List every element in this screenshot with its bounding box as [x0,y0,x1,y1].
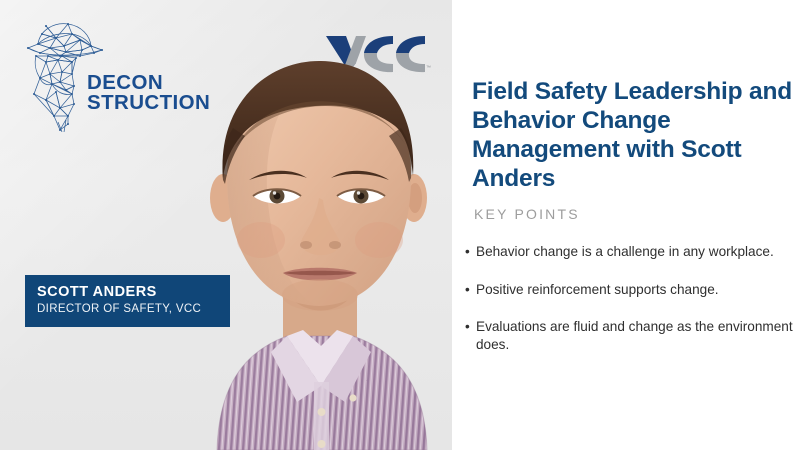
list-item: • Positive reinforcement supports change… [465,281,795,299]
list-item-text: Behavior change is a challenge in any wo… [476,244,774,259]
right-panel: Field Safety Leadership and Behavior Cha… [452,0,800,450]
left-panel: DECON STRUCTION ™ [0,0,452,450]
presentation-slide: DECON STRUCTION ™ [0,0,800,450]
speaker-name: SCOTT ANDERS [37,284,230,300]
key-points-list: • Behavior change is a challenge in any … [465,243,795,373]
speaker-role: DIRECTOR OF SAFETY, VCC [37,302,230,317]
bullet-icon: • [465,281,470,299]
list-item: • Behavior change is a challenge in any … [465,243,795,261]
key-points-heading: KEY POINTS [474,206,580,222]
speaker-portrait-photo [175,30,452,450]
bullet-icon: • [465,243,470,261]
list-item: • Evaluations are fluid and change as th… [465,318,795,353]
list-item-text: Evaluations are fluid and change as the … [476,319,793,352]
list-item-text: Positive reinforcement supports change. [476,282,719,297]
slide-title: Field Safety Leadership and Behavior Cha… [472,77,792,193]
speaker-nameplate: SCOTT ANDERS DIRECTOR OF SAFETY, VCC [25,275,230,327]
bullet-icon: • [465,318,470,336]
